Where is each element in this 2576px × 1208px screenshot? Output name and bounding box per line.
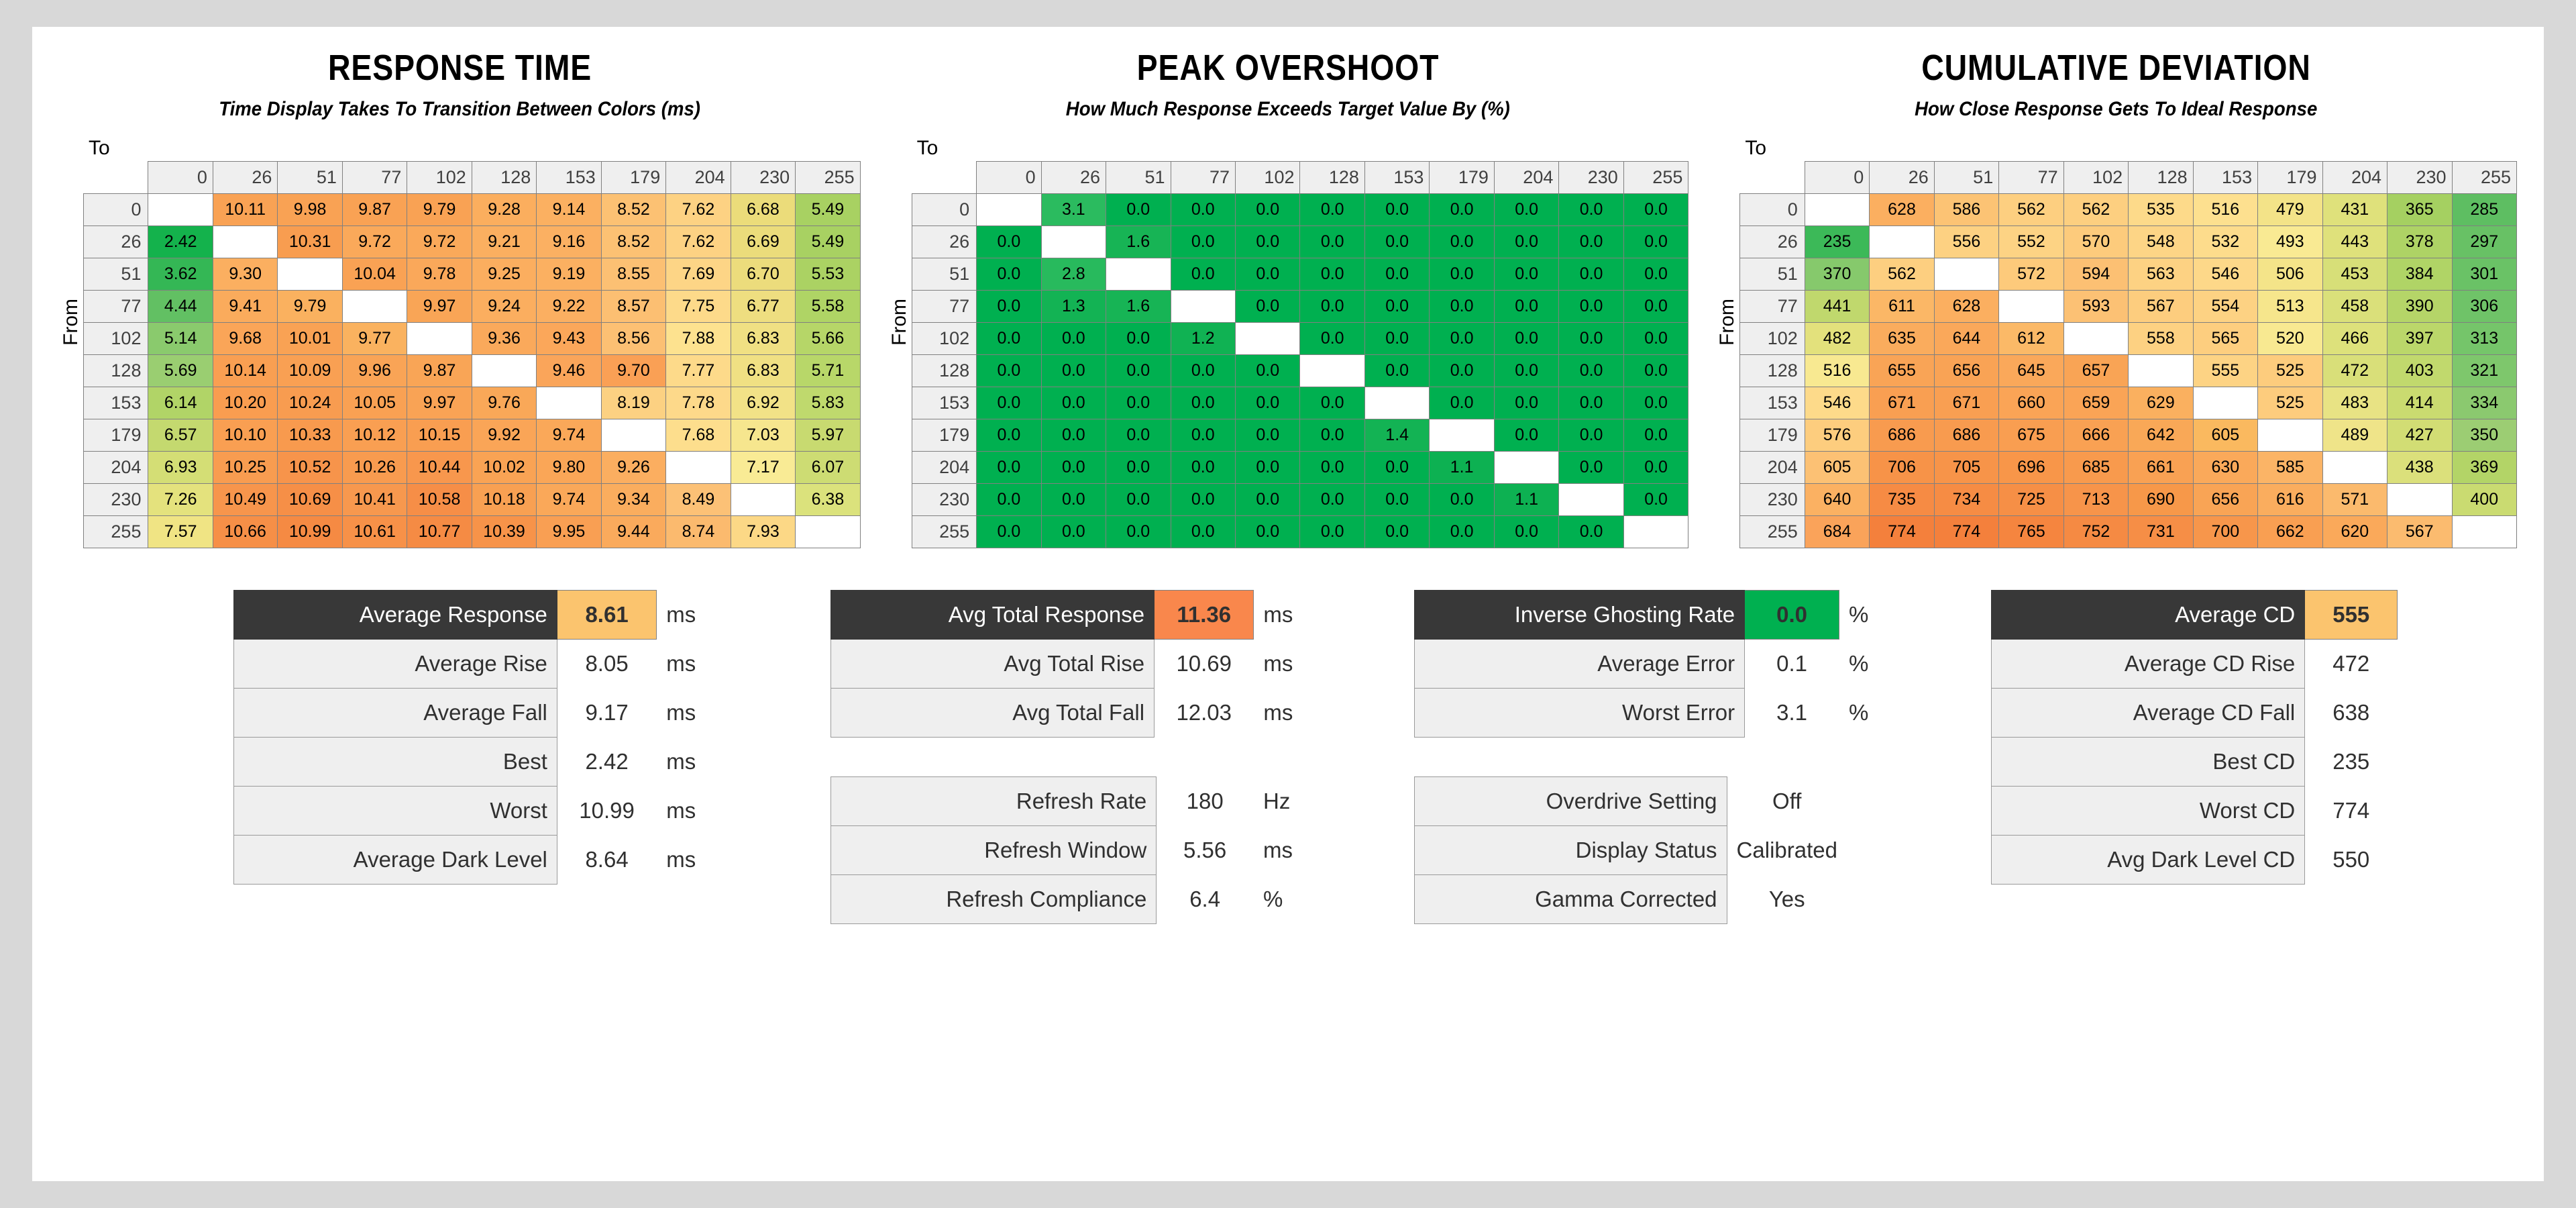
matrix-row-header: 26 xyxy=(1740,226,1805,258)
matrix-row: 255684774774765752731700662620567 xyxy=(1740,516,2517,548)
stats-label: Refresh Window xyxy=(831,826,1157,875)
matrix-cell-diagonal xyxy=(472,355,536,387)
stats-table-refresh: Refresh Rate180HzRefresh Window5.56msRef… xyxy=(830,776,1327,924)
matrix-row-header: 102 xyxy=(1740,323,1805,355)
matrix-cell: 562 xyxy=(1999,194,2063,226)
matrix-cell: 7.62 xyxy=(666,194,731,226)
matrix-cell: 0.0 xyxy=(1106,452,1171,484)
matrix-cell: 10.99 xyxy=(278,516,342,548)
matrix-cell-diagonal xyxy=(1300,355,1364,387)
matrix-cell: 555 xyxy=(2193,355,2257,387)
matrix-col-header: 153 xyxy=(2193,162,2257,194)
matrix-cell: 9.92 xyxy=(472,419,536,452)
stats-row: Gamma CorrectedYes xyxy=(1415,875,1911,924)
matrix-cell: 552 xyxy=(1999,226,2063,258)
stats-value: 0.1 xyxy=(1745,640,1839,689)
matrix-cell: 0.0 xyxy=(1559,419,1623,452)
stats-row: Average Error0.1% xyxy=(1415,640,1911,689)
stats-label: Display Status xyxy=(1415,826,1727,875)
stats-label: Average CD Fall xyxy=(1992,689,2305,738)
stats-value: 6.4 xyxy=(1157,875,1254,924)
matrix-cell: 7.88 xyxy=(666,323,731,355)
stats-value: 8.61 xyxy=(557,591,656,640)
matrix-cell: 9.98 xyxy=(278,194,342,226)
matrix-cell: 10.66 xyxy=(213,516,277,548)
matrix-cell: 635 xyxy=(1870,323,1934,355)
matrix-cell-diagonal xyxy=(1623,516,1688,548)
matrix-col-header: 77 xyxy=(1171,162,1235,194)
matrix-cell: 8.19 xyxy=(601,387,665,419)
matrix-row-header: 255 xyxy=(912,516,976,548)
matrix-cell: 2.42 xyxy=(148,226,213,258)
matrix-cell: 629 xyxy=(2129,387,2193,419)
matrix-cell-diagonal xyxy=(1559,484,1623,516)
matrix-cell: 0.0 xyxy=(977,484,1041,516)
matrix-cell: 562 xyxy=(1870,258,1934,291)
stats-label: Best xyxy=(234,738,557,787)
matrix-cell: 774 xyxy=(1870,516,1934,548)
matrix-cell: 731 xyxy=(2129,516,2193,548)
matrix-cell: 0.0 xyxy=(1623,194,1688,226)
matrix-cell: 8.57 xyxy=(601,291,665,323)
matrix-cell: 9.43 xyxy=(537,323,601,355)
matrix-row: 2307.2610.4910.6910.4110.5810.189.749.34… xyxy=(84,484,861,516)
matrix-cell: 472 xyxy=(2322,355,2387,387)
matrix-cell: 713 xyxy=(2063,484,2128,516)
matrix-cell: 5.66 xyxy=(796,323,861,355)
matrix-cell: 8.74 xyxy=(666,516,731,548)
panel-title-cumulative-deviation: CUMULATIVE DEVIATION xyxy=(1921,47,2311,89)
matrix-cell: 0.0 xyxy=(1171,258,1235,291)
matrix-cell: 10.77 xyxy=(407,516,472,548)
matrix-cell: 0.0 xyxy=(1494,516,1558,548)
matrix-wrap-response-time: From To 0265177102128153179204230255010.… xyxy=(59,138,861,548)
matrix-row: 26235556552570548532493443378297 xyxy=(1740,226,2517,258)
matrix-cell: 628 xyxy=(1870,194,1934,226)
matrix-cell: 662 xyxy=(2258,516,2322,548)
matrix-cell: 0.0 xyxy=(1236,258,1300,291)
matrix-cell: 9.41 xyxy=(213,291,277,323)
matrix-cell: 414 xyxy=(2387,387,2452,419)
stats-row: Average CD Fall638 xyxy=(1992,689,2461,738)
matrix-row: 774.449.419.799.979.249.228.577.756.775.… xyxy=(84,291,861,323)
matrix-cell: 0.0 xyxy=(1106,323,1171,355)
matrix-cell: 0.0 xyxy=(1106,419,1171,452)
matrix-cell: 0.0 xyxy=(1623,452,1688,484)
matrix-cell: 6.07 xyxy=(796,452,861,484)
stats-unit: % xyxy=(1839,689,1911,738)
matrix-cell: 0.0 xyxy=(1364,258,1429,291)
matrix-row-header: 255 xyxy=(84,516,148,548)
stats-value: 12.03 xyxy=(1155,689,1254,738)
stats-label: Average Response xyxy=(234,591,557,640)
matrix-cell: 657 xyxy=(2063,355,2128,387)
matrix-cell: 0.0 xyxy=(1430,516,1494,548)
matrix-cell-diagonal xyxy=(666,452,731,484)
matrix-cell: 235 xyxy=(1805,226,1869,258)
matrix-cell: 9.70 xyxy=(601,355,665,387)
matrix-cell: 5.49 xyxy=(796,194,861,226)
matrix-cell: 1.6 xyxy=(1106,226,1171,258)
matrix-cell: 686 xyxy=(1934,419,1998,452)
matrix-cell: 10.15 xyxy=(407,419,472,452)
matrix-cell: 659 xyxy=(2063,387,2128,419)
matrix-cell: 6.77 xyxy=(731,291,795,323)
matrix-wrap-cumulative-deviation: From To 02651771021281531792042302550628… xyxy=(1715,138,2517,548)
matrix-cell: 774 xyxy=(1934,516,1998,548)
matrix-cell: 690 xyxy=(2129,484,2193,516)
stats-value: 555 xyxy=(2305,591,2398,640)
matrix-cell-diagonal xyxy=(1494,452,1558,484)
stats-label: Average CD Rise xyxy=(1992,640,2305,689)
matrix-cell: 9.95 xyxy=(537,516,601,548)
matrix-cell: 390 xyxy=(2387,291,2452,323)
matrix-cell: 0.0 xyxy=(1430,194,1494,226)
matrix-cell-diagonal xyxy=(278,258,342,291)
matrix-cell: 10.31 xyxy=(278,226,342,258)
matrix-cell: 7.57 xyxy=(148,516,213,548)
matrix-row-header: 230 xyxy=(84,484,148,516)
axis-label-to-cumulative-deviation: To xyxy=(1745,138,2517,158)
matrix-cell: 7.03 xyxy=(731,419,795,452)
matrix-cell: 397 xyxy=(2387,323,2452,355)
matrix-cell: 9.87 xyxy=(407,355,472,387)
matrix-cell: 586 xyxy=(1934,194,1998,226)
matrix-cell: 489 xyxy=(2322,419,2387,452)
matrix-row-header: 204 xyxy=(1740,452,1805,484)
stats-unit xyxy=(2398,738,2461,787)
panel-peak-overshoot: PEAK OVERSHOOT How Much Response Exceeds… xyxy=(888,47,1689,548)
stats-row-primary: Average CD555 xyxy=(1992,591,2461,640)
matrix-row-header: 230 xyxy=(912,484,976,516)
matrix-cell: 567 xyxy=(2387,516,2452,548)
matrix-col-header: 77 xyxy=(1999,162,2063,194)
matrix-cell: 0.0 xyxy=(1430,387,1494,419)
matrix-cell: 443 xyxy=(2322,226,2387,258)
matrix-cell: 7.78 xyxy=(666,387,731,419)
matrix-row-header: 102 xyxy=(84,323,148,355)
stats-unit xyxy=(2398,787,2461,836)
matrix-cell: 556 xyxy=(1934,226,1998,258)
matrix-cell: 10.61 xyxy=(342,516,407,548)
matrix-row: 1020.00.00.01.20.00.00.00.00.00.0 xyxy=(912,323,1688,355)
matrix-col-header: 26 xyxy=(1870,162,1934,194)
matrix-cell: 0.0 xyxy=(1559,194,1623,226)
stats-unit: ms xyxy=(657,787,730,836)
matrix-cell: 4.44 xyxy=(148,291,213,323)
matrix-row-header: 153 xyxy=(1740,387,1805,419)
matrix-row: 204605706705696685661630585438369 xyxy=(1740,452,2517,484)
matrix-cell: 525 xyxy=(2258,387,2322,419)
matrix-col-header: 153 xyxy=(1364,162,1429,194)
matrix-col-header: 128 xyxy=(472,162,536,194)
matrix-cell-diagonal xyxy=(1870,226,1934,258)
matrix-row-header: 204 xyxy=(84,452,148,484)
stats-row-primary: Avg Total Response11.36ms xyxy=(831,591,1327,640)
matrix-cell: 9.16 xyxy=(537,226,601,258)
stats-table-response: Average Response8.61msAverage Rise8.05ms… xyxy=(233,590,730,885)
matrix-cell: 9.78 xyxy=(407,258,472,291)
matrix-col-header: 51 xyxy=(1934,162,1998,194)
stats-row: Overdrive SettingOff xyxy=(1415,777,1911,826)
matrix-cell: 301 xyxy=(2452,258,2517,291)
matrix-col-header: 102 xyxy=(2063,162,2128,194)
matrix-row: 010.119.989.879.799.289.148.527.626.685.… xyxy=(84,194,861,226)
stats-row: Avg Total Fall12.03ms xyxy=(831,689,1327,738)
matrix-cell: 10.11 xyxy=(213,194,277,226)
matrix-row: 1530.00.00.00.00.00.00.00.00.00.0 xyxy=(912,387,1688,419)
matrix-cell: 9.21 xyxy=(472,226,536,258)
matrix-cell: 700 xyxy=(2193,516,2257,548)
matrix-cell: 562 xyxy=(2063,194,2128,226)
stats-unit: % xyxy=(1839,640,1911,689)
stats-unit: ms xyxy=(1254,640,1327,689)
matrix-cell: 0.0 xyxy=(1300,323,1364,355)
matrix-row: 1536.1410.2010.2410.059.979.768.197.786.… xyxy=(84,387,861,419)
matrix-cell: 585 xyxy=(2258,452,2322,484)
matrix-cell: 0.0 xyxy=(1494,258,1558,291)
matrix-cell: 0.0 xyxy=(1106,484,1171,516)
matrix-cell: 9.80 xyxy=(537,452,601,484)
matrix-cell-diagonal xyxy=(1171,291,1235,323)
matrix-cell: 686 xyxy=(1870,419,1934,452)
stats-label: Worst xyxy=(234,787,557,836)
matrix-row-header: 153 xyxy=(912,387,976,419)
matrix-cell: 9.77 xyxy=(342,323,407,355)
matrix-cell-diagonal xyxy=(342,291,407,323)
matrix-cell: 5.97 xyxy=(796,419,861,452)
matrix-cell: 297 xyxy=(2452,226,2517,258)
stats-label: Worst Error xyxy=(1415,689,1745,738)
stats-label: Average Error xyxy=(1415,640,1745,689)
matrix-row-header: 26 xyxy=(912,226,976,258)
matrix-cell: 0.0 xyxy=(1041,452,1106,484)
matrix-row: 1285.6910.1410.099.969.879.469.707.776.8… xyxy=(84,355,861,387)
matrix-cell: 9.79 xyxy=(278,291,342,323)
matrix-cell: 6.68 xyxy=(731,194,795,226)
stats-value: 638 xyxy=(2305,689,2398,738)
matrix-cell: 438 xyxy=(2387,452,2452,484)
stats-label: Average Rise xyxy=(234,640,557,689)
matrix-cell: 0.0 xyxy=(1430,258,1494,291)
stats-row: Display StatusCalibrated xyxy=(1415,826,1911,875)
matrix-row-header: 51 xyxy=(84,258,148,291)
matrix-row-header: 230 xyxy=(1740,484,1805,516)
matrix-row: 128516655656645657555525472403321 xyxy=(1740,355,2517,387)
matrix-row-header: 255 xyxy=(1740,516,1805,548)
matrix-col-header: 0 xyxy=(148,162,213,194)
matrix-cell: 525 xyxy=(2258,355,2322,387)
panel-cumulative-deviation: CUMULATIVE DEVIATION How Close Response … xyxy=(1715,47,2517,548)
heatmap-table-cumulative-deviation: 0265177102128153179204230255062858656256… xyxy=(1739,161,2517,548)
matrix-cell: 10.04 xyxy=(342,258,407,291)
matrix-cell: 0.0 xyxy=(1623,291,1688,323)
matrix-cell: 9.74 xyxy=(537,419,601,452)
stats-row: Avg Total Rise10.69ms xyxy=(831,640,1327,689)
matrix-cell: 6.69 xyxy=(731,226,795,258)
matrix-cell: 0.0 xyxy=(1236,355,1300,387)
matrix-row-header: 51 xyxy=(1740,258,1805,291)
matrix-cell: 605 xyxy=(2193,419,2257,452)
matrix-cell: 0.0 xyxy=(1041,355,1106,387)
matrix-row-header: 179 xyxy=(912,419,976,452)
matrix-cell: 516 xyxy=(2193,194,2257,226)
matrix-col-header: 255 xyxy=(796,162,861,194)
matrix-cell: 8.52 xyxy=(601,226,665,258)
matrix-cell: 0.0 xyxy=(1106,516,1171,548)
stats-row: Refresh Window5.56ms xyxy=(831,826,1327,875)
matrix-cell: 10.58 xyxy=(407,484,472,516)
stats-unit: ms xyxy=(657,640,730,689)
matrix-cell: 0.0 xyxy=(1041,516,1106,548)
matrix-row: 179576686686675666642605489427350 xyxy=(1740,419,2517,452)
matrix-cell: 6.83 xyxy=(731,355,795,387)
matrix-cell: 0.0 xyxy=(977,516,1041,548)
matrix-row: 513.629.3010.049.789.259.198.557.696.705… xyxy=(84,258,861,291)
matrix-cell: 684 xyxy=(1805,516,1869,548)
matrix-cell: 558 xyxy=(2129,323,2193,355)
matrix-cell: 594 xyxy=(2063,258,2128,291)
matrix-cell: 8.49 xyxy=(666,484,731,516)
matrix-cell: 0.0 xyxy=(1494,355,1558,387)
matrix-corner xyxy=(84,162,148,194)
stats-value: 2.42 xyxy=(557,738,656,787)
matrix-cell: 0.0 xyxy=(1494,226,1558,258)
matrix-cell: 10.33 xyxy=(278,419,342,452)
matrix-cell-diagonal xyxy=(148,194,213,226)
panel-title-response-time: RESPONSE TIME xyxy=(328,47,592,89)
stats-label: Average Dark Level xyxy=(234,836,557,885)
matrix-cell: 7.68 xyxy=(666,419,731,452)
matrix-cell: 9.28 xyxy=(472,194,536,226)
stats-value: 10.99 xyxy=(557,787,656,836)
matrix-cell: 6.92 xyxy=(731,387,795,419)
matrix-row: 770.01.31.60.00.00.00.00.00.00.0 xyxy=(912,291,1688,323)
stats-value: 8.05 xyxy=(557,640,656,689)
matrix-cell: 0.0 xyxy=(1494,387,1558,419)
matrix-cell: 546 xyxy=(1805,387,1869,419)
panel-subtitle-response-time: Time Display Takes To Transition Between… xyxy=(219,98,700,121)
matrix-row-header: 102 xyxy=(912,323,976,355)
stats-value: 550 xyxy=(2305,836,2398,885)
matrix-cell: 10.39 xyxy=(472,516,536,548)
matrix-cell: 506 xyxy=(2258,258,2322,291)
stats-column-response: Average Response8.61msAverage Rise8.05ms… xyxy=(233,590,730,924)
matrix-cell: 5.49 xyxy=(796,226,861,258)
matrix-cell: 0.0 xyxy=(977,323,1041,355)
matrix-cell: 6.14 xyxy=(148,387,213,419)
stats-label: Refresh Rate xyxy=(831,777,1157,826)
matrix-cell: 611 xyxy=(1870,291,1934,323)
matrix-row: 102482635644612558565520466397313 xyxy=(1740,323,2517,355)
matrix-cell: 0.0 xyxy=(1364,516,1429,548)
matrix-cell: 479 xyxy=(2258,194,2322,226)
matrix-cell: 6.57 xyxy=(148,419,213,452)
matrix-cell: 7.93 xyxy=(731,516,795,548)
matrix-cell: 0.0 xyxy=(1041,323,1106,355)
matrix-cell: 0.0 xyxy=(1300,387,1364,419)
matrix-cell: 10.49 xyxy=(213,484,277,516)
matrix-cell: 10.10 xyxy=(213,419,277,452)
matrix-cell: 0.0 xyxy=(1623,387,1688,419)
matrix-cell: 0.0 xyxy=(1106,194,1171,226)
matrix-cell: 10.18 xyxy=(472,484,536,516)
matrix-cell: 0.0 xyxy=(1623,226,1688,258)
stats-unit xyxy=(1847,826,1910,875)
panel-subtitle-peak-overshoot: How Much Response Exceeds Target Value B… xyxy=(1066,98,1510,121)
matrix-cell: 378 xyxy=(2387,226,2452,258)
stats-unit: ms xyxy=(657,591,730,640)
stats-column-cd: Average CD555Average CD Rise472Average C… xyxy=(1991,590,2461,924)
matrix-main-peak-overshoot: To 026517710212815317920423025503.10.00.… xyxy=(912,138,1689,548)
matrix-cell: 554 xyxy=(2193,291,2257,323)
matrix-cell: 706 xyxy=(1870,452,1934,484)
stats-row: Average Dark Level8.64ms xyxy=(234,836,730,885)
stats-label: Best CD xyxy=(1992,738,2305,787)
stats-value: 472 xyxy=(2305,640,2398,689)
matrix-cell-diagonal xyxy=(2258,419,2322,452)
stats-label: Gamma Corrected xyxy=(1415,875,1727,924)
matrix-cell: 7.75 xyxy=(666,291,731,323)
matrix-cell: 5.71 xyxy=(796,355,861,387)
stats-label: Avg Total Rise xyxy=(831,640,1155,689)
matrix-cell: 334 xyxy=(2452,387,2517,419)
matrix-cell: 563 xyxy=(2129,258,2193,291)
matrix-cell: 10.14 xyxy=(213,355,277,387)
matrix-cell: 567 xyxy=(2129,291,2193,323)
matrix-cell: 655 xyxy=(1870,355,1934,387)
stats-label: Average CD xyxy=(1992,591,2305,640)
matrix-cell: 0.0 xyxy=(1300,484,1364,516)
matrix-cell: 735 xyxy=(1870,484,1934,516)
matrix-cell: 0.0 xyxy=(1236,452,1300,484)
matrix-cell: 0.0 xyxy=(1430,323,1494,355)
matrix-cell: 10.02 xyxy=(472,452,536,484)
matrix-cell: 427 xyxy=(2387,419,2452,452)
stats-row: Average Response8.61msAverage Rise8.05ms… xyxy=(32,563,2544,924)
stats-spacer-2 xyxy=(1414,738,1911,776)
matrix-col-header: 230 xyxy=(2387,162,2452,194)
matrix-cell: 612 xyxy=(1999,323,2063,355)
matrix-cell: 570 xyxy=(2063,226,2128,258)
matrix-cell: 0.0 xyxy=(1041,419,1106,452)
matrix-cell: 0.0 xyxy=(1623,258,1688,291)
matrix-cell: 0.0 xyxy=(1559,452,1623,484)
matrix-cell: 285 xyxy=(2452,194,2517,226)
stats-unit xyxy=(2398,836,2461,885)
matrix-cell: 7.77 xyxy=(666,355,731,387)
matrix-corner xyxy=(912,162,976,194)
matrix-cell-diagonal xyxy=(977,194,1041,226)
matrix-row-header: 77 xyxy=(1740,291,1805,323)
matrix-row: 2040.00.00.00.00.00.00.01.10.00.0 xyxy=(912,452,1688,484)
matrix-cell: 0.0 xyxy=(1430,291,1494,323)
matrix-cell: 628 xyxy=(1934,291,1998,323)
matrix-cell: 656 xyxy=(1934,355,1998,387)
matrix-cell: 482 xyxy=(1805,323,1869,355)
matrix-cell: 10.25 xyxy=(213,452,277,484)
matrix-cell: 0.0 xyxy=(1364,323,1429,355)
matrix-cell: 520 xyxy=(2258,323,2322,355)
matrix-cell: 0.0 xyxy=(1364,226,1429,258)
matrix-cell: 7.17 xyxy=(731,452,795,484)
stats-table-display: Overdrive SettingOffDisplay StatusCalibr… xyxy=(1414,776,1911,924)
matrix-cell: 321 xyxy=(2452,355,2517,387)
matrix-cell: 10.20 xyxy=(213,387,277,419)
matrix-row-header: 179 xyxy=(1740,419,1805,452)
matrix-cell: 0.0 xyxy=(1494,291,1558,323)
matrix-cell: 483 xyxy=(2322,387,2387,419)
